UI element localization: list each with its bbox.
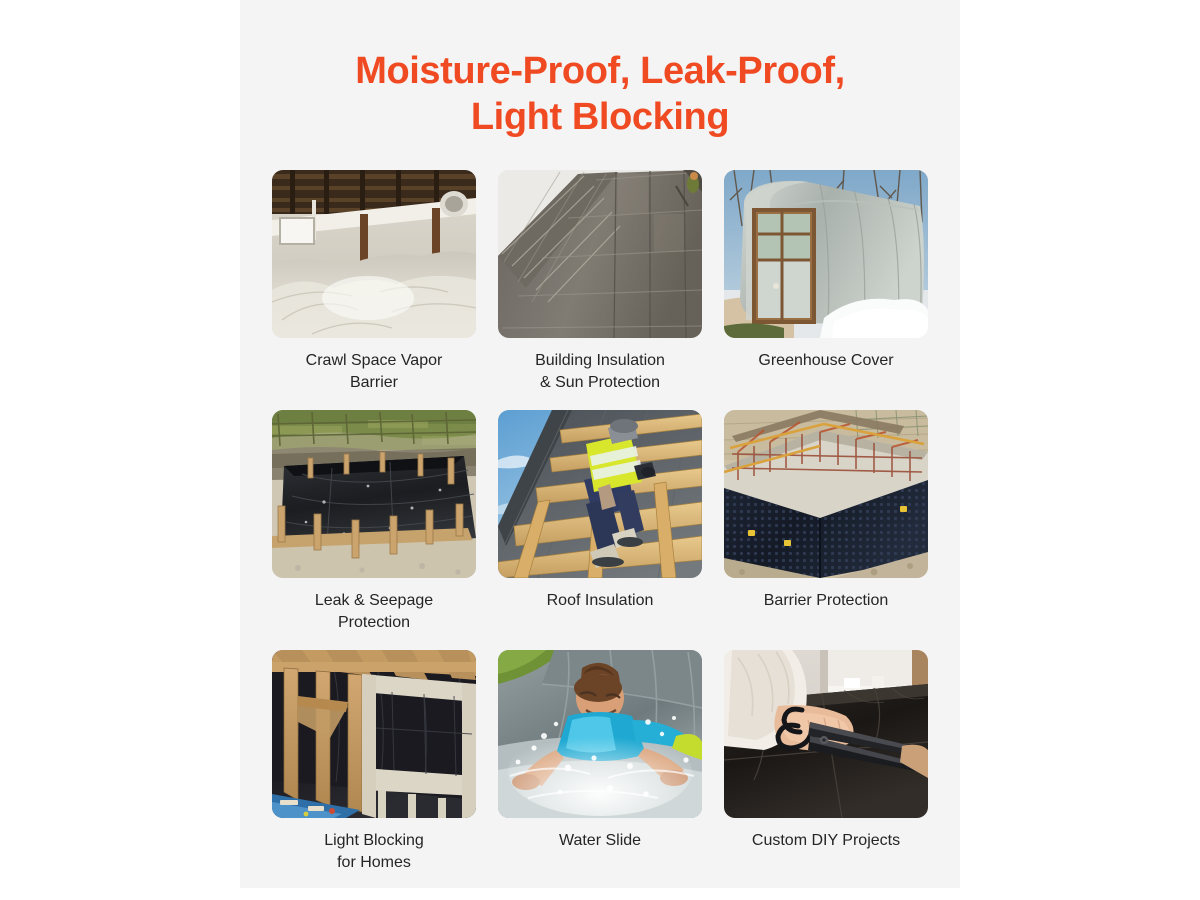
product-feature-page: Moisture-Proof, Leak-Proof, Light Blocki…	[0, 0, 1200, 900]
caption-line-2: for Homes	[269, 852, 479, 874]
use-case-card-roof-insulation[interactable]: Roof Insulation	[498, 410, 702, 634]
use-case-card-building-insulation-sun-protection[interactable]: Building Insulation & Sun Protection	[498, 170, 702, 394]
use-case-card-custom-diy-projects[interactable]: Custom DIY Projects	[724, 650, 928, 874]
caption-line-1: Barrier Protection	[764, 592, 889, 609]
water-slide-image	[498, 650, 702, 818]
use-case-card-barrier-protection[interactable]: Barrier Protection	[724, 410, 928, 634]
greenhouse-cover-image	[724, 170, 928, 338]
caption-line-1: Roof Insulation	[547, 592, 654, 609]
barrier-protection-image	[724, 410, 928, 578]
use-case-caption: Water Slide	[495, 830, 705, 874]
page-title: Moisture-Proof, Leak-Proof, Light Blocki…	[274, 48, 926, 140]
use-case-card-crawl-space-vapor-barrier[interactable]: Crawl Space Vapor Barrier	[272, 170, 476, 394]
use-case-caption: Building Insulation & Sun Protection	[495, 350, 705, 394]
caption-line-1: Crawl Space Vapor	[306, 352, 443, 369]
use-case-caption: Barrier Protection	[721, 590, 931, 634]
feature-panel: Moisture-Proof, Leak-Proof, Light Blocki…	[240, 0, 960, 888]
use-case-card-light-blocking-for-homes[interactable]: Light Blocking for Homes	[272, 650, 476, 874]
caption-line-2: & Sun Protection	[495, 372, 705, 394]
use-case-caption: Greenhouse Cover	[721, 350, 931, 394]
leak-seepage-protection-image	[272, 410, 476, 578]
page-title-line-2: Light Blocking	[274, 94, 926, 140]
caption-line-2: Protection	[269, 612, 479, 634]
use-case-card-leak-seepage-protection[interactable]: Leak & Seepage Protection	[272, 410, 476, 634]
caption-line-1: Water Slide	[559, 832, 641, 849]
roof-insulation-image	[498, 410, 702, 578]
use-case-caption: Roof Insulation	[495, 590, 705, 634]
caption-line-1: Light Blocking	[324, 832, 424, 849]
use-case-caption: Custom DIY Projects	[721, 830, 931, 874]
caption-line-1: Leak & Seepage	[315, 592, 433, 609]
use-case-caption: Leak & Seepage Protection	[269, 590, 479, 634]
use-case-caption: Crawl Space Vapor Barrier	[269, 350, 479, 394]
caption-line-1: Greenhouse Cover	[758, 352, 893, 369]
caption-line-1: Custom DIY Projects	[752, 832, 900, 849]
custom-diy-projects-image	[724, 650, 928, 818]
use-case-grid: Crawl Space Vapor Barrier	[274, 170, 926, 890]
crawl-space-vapor-barrier-image	[272, 170, 476, 338]
use-case-card-greenhouse-cover[interactable]: Greenhouse Cover	[724, 170, 928, 394]
caption-line-1: Building Insulation	[535, 352, 665, 369]
building-insulation-sun-protection-image	[498, 170, 702, 338]
page-title-line-1: Moisture-Proof, Leak-Proof,	[355, 50, 845, 92]
caption-line-2: Barrier	[269, 372, 479, 394]
light-blocking-for-homes-image	[272, 650, 476, 818]
use-case-card-water-slide[interactable]: Water Slide	[498, 650, 702, 874]
use-case-caption: Light Blocking for Homes	[269, 830, 479, 874]
